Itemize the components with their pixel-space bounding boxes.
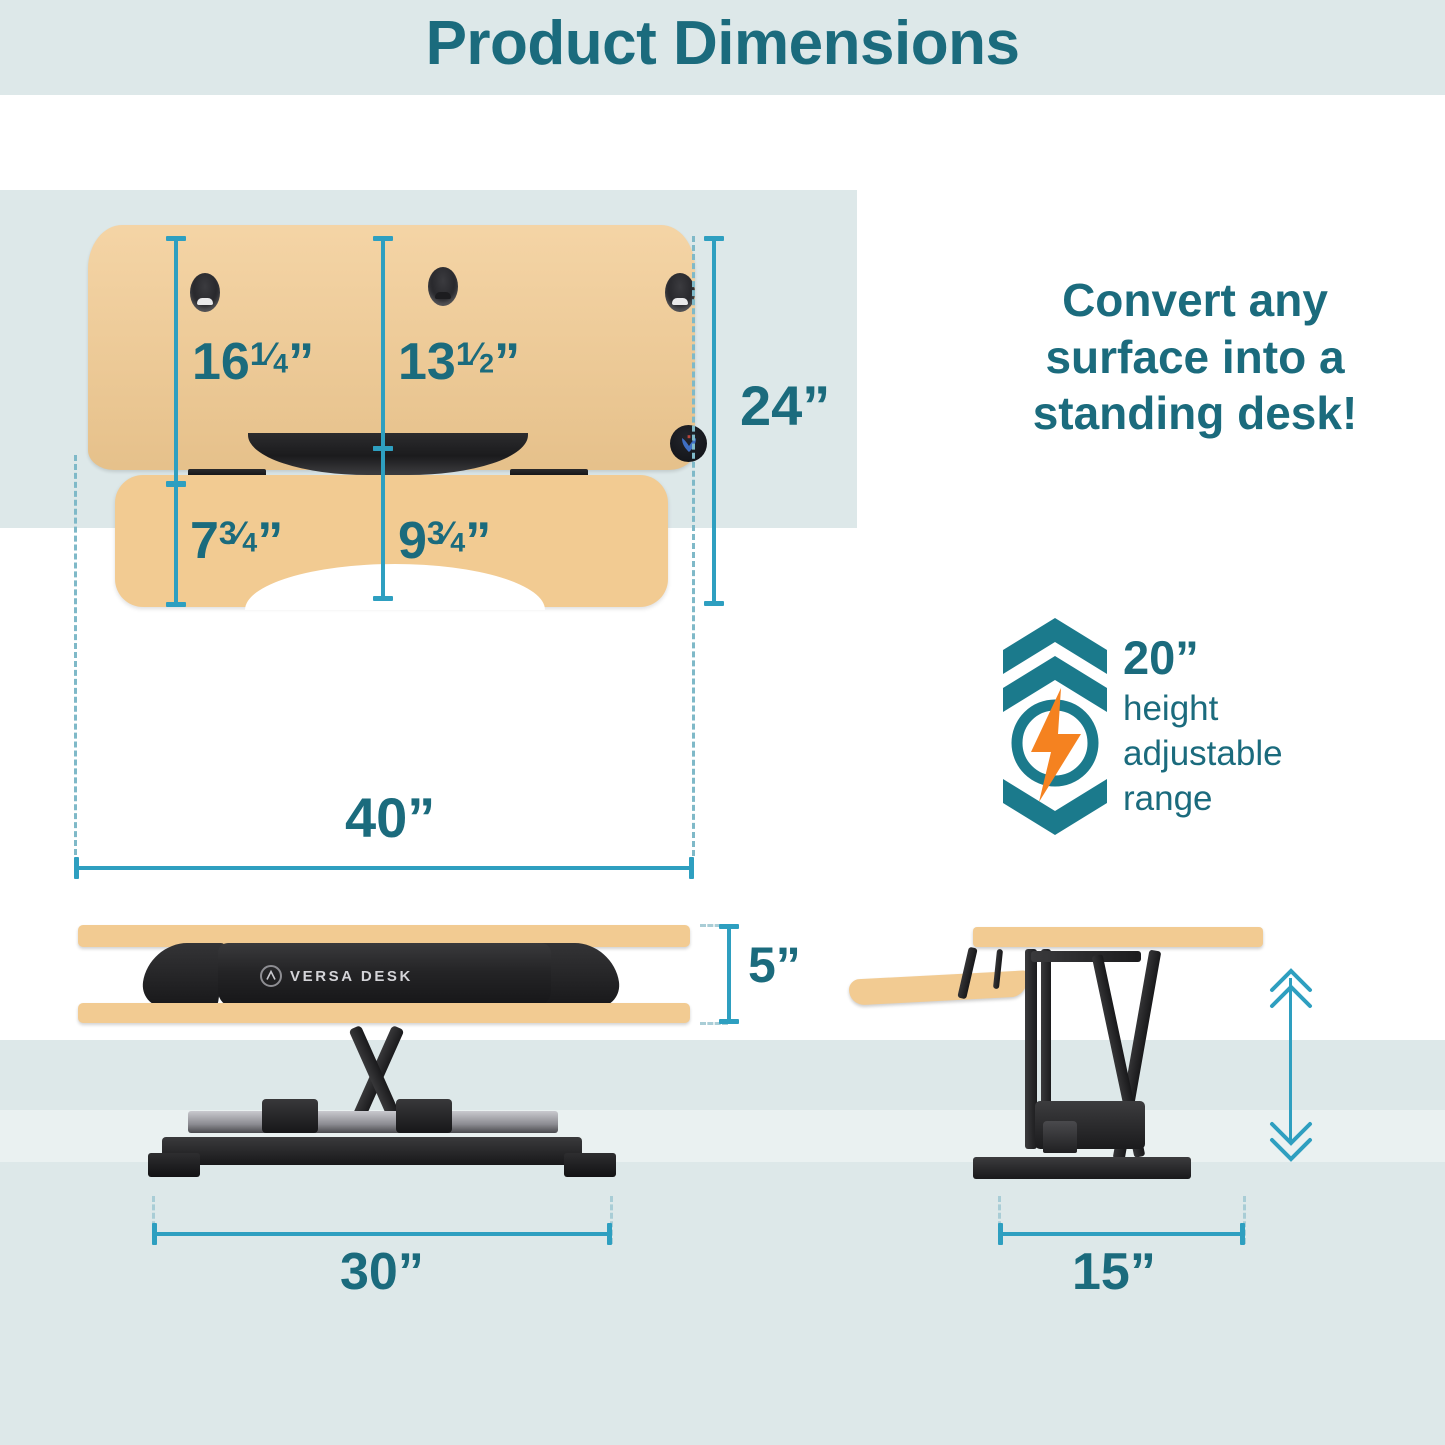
label-5: 5” <box>748 940 801 990</box>
height-adjustable-badge: 20” height adjustable range <box>995 612 1395 847</box>
profile-crossbar-top <box>1031 951 1141 962</box>
label-30: 30” <box>340 1246 424 1298</box>
tagline-line-2: surface into a <box>1000 329 1390 386</box>
profile-desktop <box>973 927 1263 947</box>
base-rail-track <box>188 1111 558 1133</box>
base-foot-right <box>564 1153 616 1177</box>
badge-line-2: adjustable <box>1123 732 1388 777</box>
label-7-three-quarter: 73⁄4” <box>190 515 283 567</box>
dimline-base-width <box>152 1232 612 1236</box>
label-9-three-quarter: 93⁄4” <box>398 515 491 567</box>
extline-width-left <box>74 455 77 855</box>
front-elevation-illustration: VERSA DESK <box>70 915 700 1195</box>
badge-value: 20” <box>1123 634 1388 681</box>
badge-copy: 20” height adjustable range <box>1123 634 1388 821</box>
tagline-line-3: standing desk! <box>1000 385 1390 442</box>
profile-control-switch <box>1043 1121 1077 1153</box>
dimline-desktop-center-depth <box>381 236 385 451</box>
badge-line-3: range <box>1123 777 1388 822</box>
badge-line-1: height <box>1123 687 1388 732</box>
label-16-quarter: 161⁄4” <box>192 336 314 388</box>
height-adjust-bolt-icon <box>995 612 1115 837</box>
label-40: 40” <box>345 790 435 846</box>
dimline-collapsed-height <box>727 924 731 1024</box>
slider-block-left <box>262 1099 318 1133</box>
base-foot-left <box>148 1153 200 1177</box>
dimline-tray-center-depth <box>381 446 385 601</box>
dimline-desktop-left-depth <box>174 236 178 486</box>
frame-wing-left <box>140 943 227 1007</box>
dimline-total-depth <box>712 236 716 606</box>
cable-grommet-center <box>428 267 458 306</box>
tray-scoop-cutout <box>245 564 545 610</box>
dimline-base-depth <box>998 1232 1245 1236</box>
side-profile-illustration <box>845 915 1265 1195</box>
tagline-block: Convert any surface into a standing desk… <box>1000 272 1390 442</box>
brand-name: VERSA DESK <box>290 968 413 985</box>
page-title: Product Dimensions <box>0 8 1445 79</box>
versadesk-circle-logo <box>260 965 282 987</box>
label-15: 15” <box>1072 1246 1156 1298</box>
tagline-line-1: Convert any <box>1000 272 1390 329</box>
extline-width-right <box>692 236 695 856</box>
infographic-canvas: Product Dimensions 161⁄4” 131⁄2” <box>0 0 1445 1445</box>
range-arrow-down-head <box>1265 1118 1291 1132</box>
dimline-total-width <box>74 866 694 870</box>
cable-grommet-left <box>190 273 220 312</box>
versadesk-logo-icon <box>670 425 707 462</box>
base-rail <box>162 1137 582 1165</box>
brand-lockup: VERSA DESK <box>260 963 510 989</box>
profile-base-plate <box>973 1157 1191 1179</box>
dimline-tray-left-depth <box>174 482 178 607</box>
range-arrow-up-head <box>1265 966 1291 980</box>
label-24: 24” <box>740 378 830 434</box>
slider-block-right <box>396 1099 452 1133</box>
label-13-half: 131⁄2” <box>398 336 520 388</box>
cable-grommet-right <box>665 273 695 312</box>
keyboard-tray-plank <box>78 1003 690 1023</box>
